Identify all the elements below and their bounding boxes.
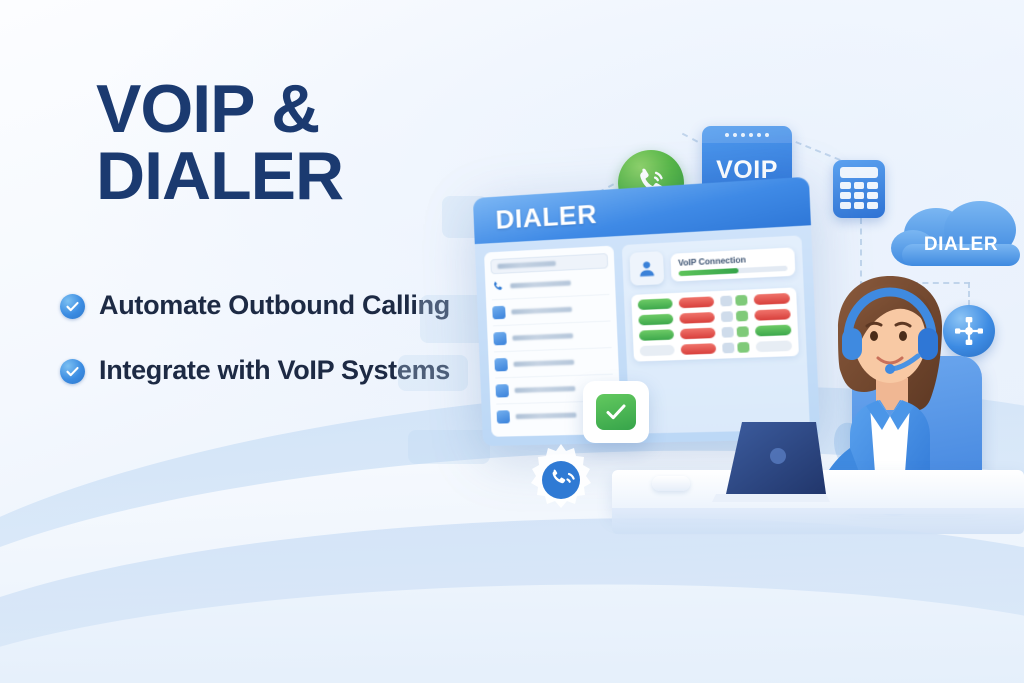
laptop-icon [708,416,830,502]
connector-line [795,141,840,161]
status-badge: VoIP Connection [670,247,795,281]
contact-number [515,386,576,393]
success-check-card [583,381,649,443]
table-row [638,309,790,326]
keypad-icon [494,358,507,371]
toggle-pair[interactable] [722,326,749,337]
user-avatar-icon [629,251,664,286]
status-pill-green [755,325,791,337]
headline-line-1: VOIP & [96,71,319,147]
connection-pane: VoIP Connection [622,235,810,433]
contact-number [516,413,577,420]
voip-dialer-banner: VOIP & DIALER Automate Outbound Calling … [0,0,1024,683]
toggle-pair[interactable] [721,311,748,323]
background-card-3 [408,430,490,464]
voip-card-titlebar [702,126,792,143]
calculator-keypad-icon[interactable] [833,160,885,218]
status-pill-green [638,298,673,310]
call-round-icon [492,306,505,320]
status-pill-red [679,312,715,324]
keypad-icon [493,332,506,346]
calculator-screen [840,167,878,178]
status-pill-green [639,329,674,341]
status-pill-red [754,293,790,305]
connection-progress-bar [679,265,788,276]
success-check-icon [596,394,636,430]
status-pill-red [754,309,790,321]
desk-front [612,508,1024,534]
table-row [639,325,791,341]
contact-number [513,360,574,367]
illustration-scene: VOIP [390,0,1024,683]
contact-number [511,307,572,315]
keypad-icon [497,410,510,423]
status-pill-neutral [640,345,675,357]
status-pill-red [680,328,716,340]
dialer-panel-title: DIALER [495,198,598,235]
status-pill-green [638,314,673,326]
status-pill-red [681,343,717,355]
status-grid [631,287,799,361]
connection-header: VoIP Connection [629,244,795,286]
table-row [638,293,790,310]
table-row [640,340,793,356]
calculator-keys [840,182,878,209]
connection-title: VoIP Connection [678,252,787,267]
background-card-2 [398,355,468,391]
check-circle-icon [60,294,85,319]
toggle-pair[interactable] [722,342,749,353]
call-automation-gear-icon [519,438,603,522]
call-round-icon [495,384,508,397]
contact-number [510,280,571,288]
mouse-icon [652,476,690,491]
contact-number [512,333,573,340]
check-circle-icon [60,359,85,384]
phone-handset-icon [491,280,504,294]
status-pill-neutral [756,340,793,352]
toggle-pair[interactable] [720,295,747,307]
status-pill-red [679,296,715,308]
list-item[interactable] [494,348,613,378]
search-placeholder-text [497,261,555,269]
